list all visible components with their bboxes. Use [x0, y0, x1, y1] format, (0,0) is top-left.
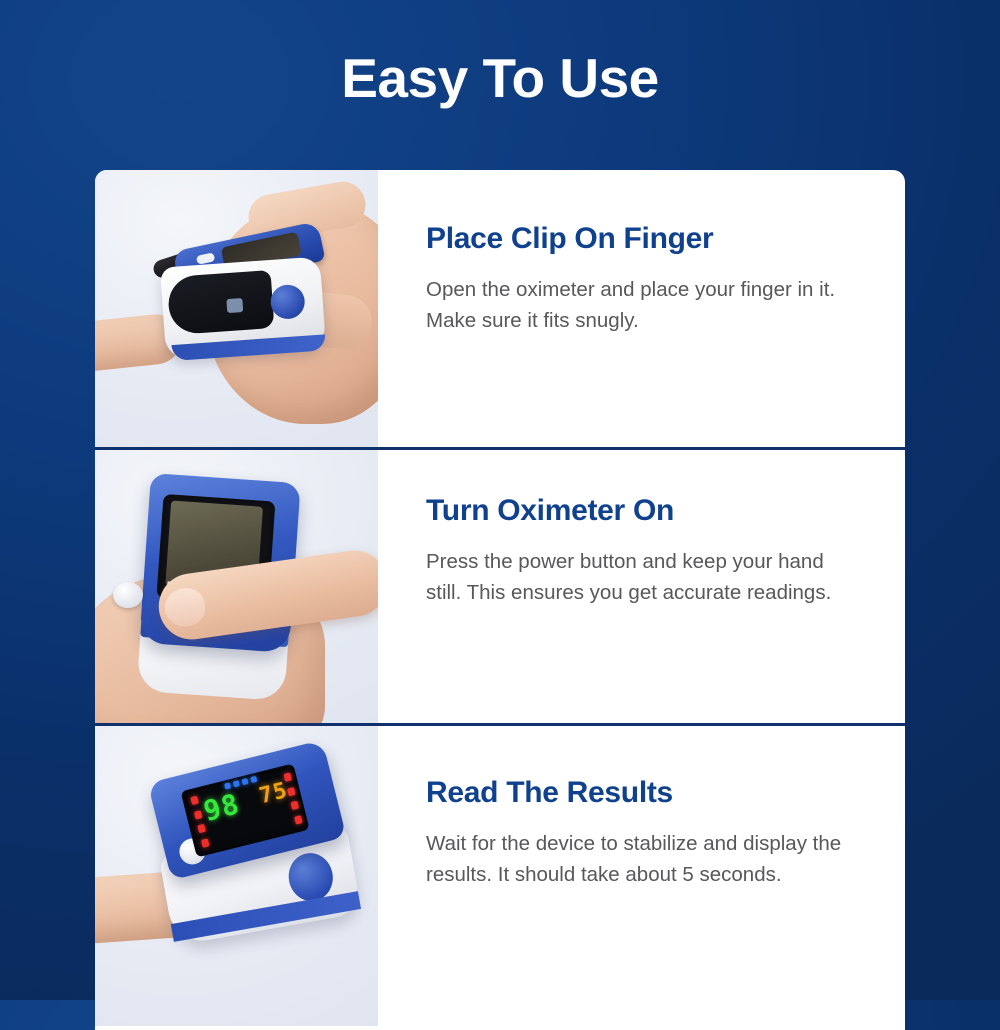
- oximeter-open-clip-photo: [95, 170, 378, 447]
- sensor-window: [226, 298, 243, 313]
- step-row-3: 98 75 Read The Results Wait for the devi…: [95, 726, 905, 1026]
- blue-stripe: [171, 891, 361, 942]
- step-2-title: Turn Oximeter On: [426, 494, 865, 528]
- step-1-text: Place Clip On Finger Open the oximeter a…: [378, 170, 905, 447]
- step-row-2: FINGERTIP Turn Oximeter On Press the pow…: [95, 450, 905, 726]
- step-3-text: Read The Results Wait for the device to …: [378, 726, 905, 1026]
- oximeter-lower-shell: [160, 257, 326, 360]
- step-2-description: Press the power button and keep your han…: [426, 546, 846, 608]
- power-button: [113, 582, 143, 608]
- step-1-description: Open the oximeter and place your finger …: [426, 274, 846, 336]
- side-knob: [270, 284, 306, 320]
- oximeter-power-press-photo: FINGERTIP: [95, 450, 378, 723]
- oximeter-reading-photo: 98 75: [95, 726, 378, 1026]
- led-display: 98 75: [181, 763, 310, 857]
- step-1-image: [95, 170, 378, 447]
- steps-card: Place Clip On Finger Open the oximeter a…: [95, 170, 905, 1030]
- step-2-text: Turn Oximeter On Press the power button …: [378, 450, 905, 723]
- step-3-description: Wait for the device to stabilize and dis…: [426, 828, 846, 890]
- fingernail-shape: [162, 586, 207, 629]
- step-row-1: Place Clip On Finger Open the oximeter a…: [95, 170, 905, 450]
- spo2-reading: 98: [201, 790, 242, 826]
- finger-cavity: [167, 270, 275, 335]
- pulse-rate-reading: 75: [257, 780, 290, 808]
- step-2-image: FINGERTIP: [95, 450, 378, 723]
- step-1-title: Place Clip On Finger: [426, 222, 865, 256]
- page-title: Easy To Use: [0, 48, 1000, 109]
- step-3-title: Read The Results: [426, 776, 865, 810]
- step-3-image: 98 75: [95, 726, 378, 1026]
